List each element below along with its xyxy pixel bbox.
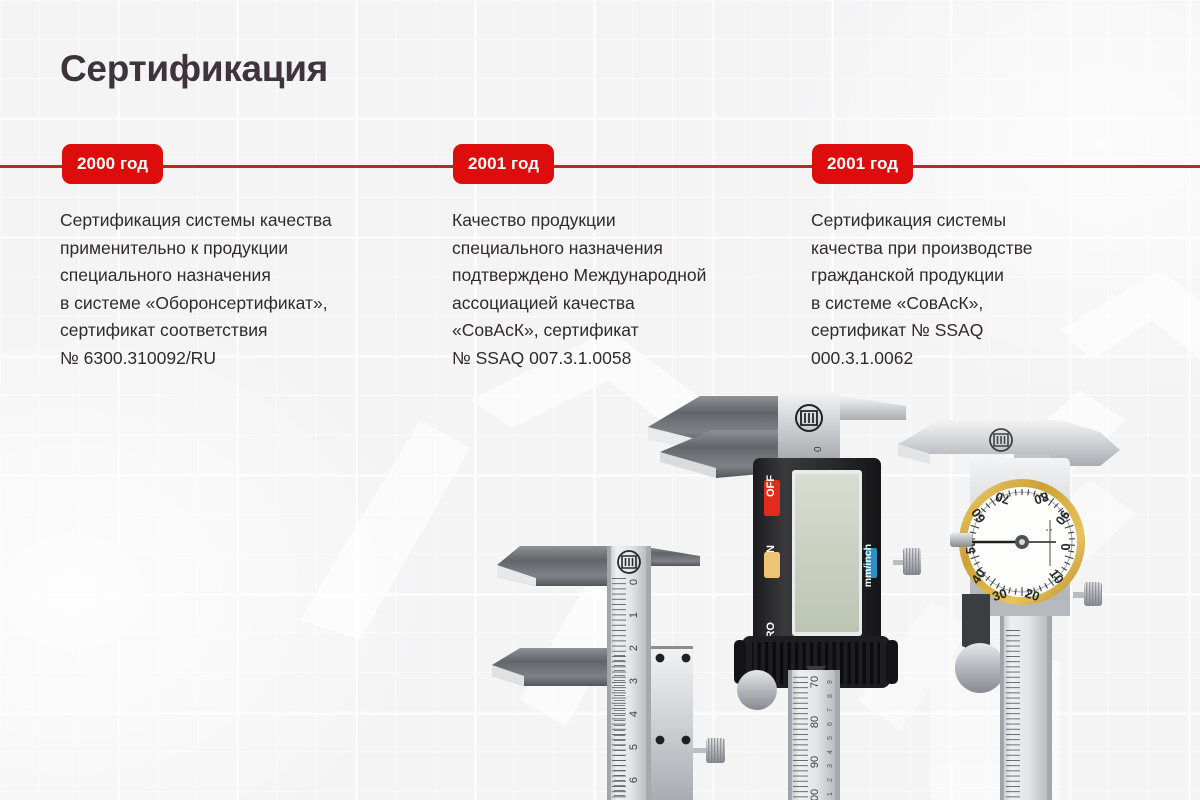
certification-text-column-3: Сертификация системы качества при произв…	[811, 207, 1151, 372]
mm-inch-label: mm/inch	[862, 544, 874, 587]
vernier-scale-label: 0	[628, 579, 640, 585]
vernier-scale-label: 5	[628, 744, 640, 750]
certification-text-column-1: Сертификация системы качества применител…	[60, 207, 445, 372]
digital-scale-label: 80	[809, 716, 821, 728]
digital-head-zero-label: 0	[813, 446, 824, 452]
year-badge-2000[interactable]: 2000 год	[62, 144, 163, 184]
digital-vernier-label: 7	[827, 708, 834, 712]
vernier-scale-label: 4	[628, 711, 640, 717]
digital-vernier-label: 9	[827, 680, 834, 684]
year-badge-2001-a[interactable]: 2001 год	[453, 144, 554, 184]
digital-thumb-screw	[893, 548, 921, 575]
dial-lock-screw	[1073, 582, 1102, 606]
digital-vernier-label: 5	[827, 736, 834, 740]
digital-vernier-label: 8	[827, 694, 834, 698]
digital-scale-label: 70	[809, 676, 821, 688]
digital-scale-label: 90	[809, 756, 821, 768]
slide-canvas: Сертификация 2000 год 2001 год 2001 год …	[0, 0, 1200, 800]
digital-depth-rod-knob	[737, 670, 777, 710]
on-button[interactable]	[764, 552, 780, 578]
digital-vernier-label: 6	[827, 722, 834, 726]
digital-vernier-label: 1	[827, 792, 834, 796]
dial-thumb-roller	[955, 643, 1005, 693]
vernier-scale-label: 2	[628, 645, 640, 651]
page-title: Сертификация	[60, 48, 328, 90]
caliper-illustration-svg: 0 1 2 3 4 5 6	[0, 370, 1200, 800]
digital-vernier-label: 2	[827, 778, 834, 782]
dial-label: 0	[1058, 543, 1073, 550]
vernier-thumb-screw	[693, 738, 725, 763]
digital-vernier-label: 3	[827, 764, 834, 768]
digital-scale-label: 100	[809, 789, 821, 800]
timeline-rule	[0, 165, 1200, 168]
dial-bezel-lock	[950, 533, 972, 547]
digital-lcd-screen	[795, 474, 859, 632]
vernier-scale-label: 6	[628, 777, 640, 783]
certification-text-column-2: Качество продукции специального назначен…	[452, 207, 792, 372]
dial-caliper: 0 10 20 30 40 50 60 70 80 90	[898, 420, 1120, 800]
vernier-caliper: 0 1 2 3 4 5 6	[492, 546, 725, 800]
caliper-photo: 0 1 2 3 4 5 6	[0, 370, 1200, 800]
off-button-label: OFF	[765, 475, 777, 497]
vernier-scale-label: 1	[628, 612, 640, 618]
year-badge-2001-b[interactable]: 2001 год	[812, 144, 913, 184]
vernier-scale-label: 3	[628, 678, 640, 684]
digital-vernier-label: 4	[827, 750, 834, 754]
